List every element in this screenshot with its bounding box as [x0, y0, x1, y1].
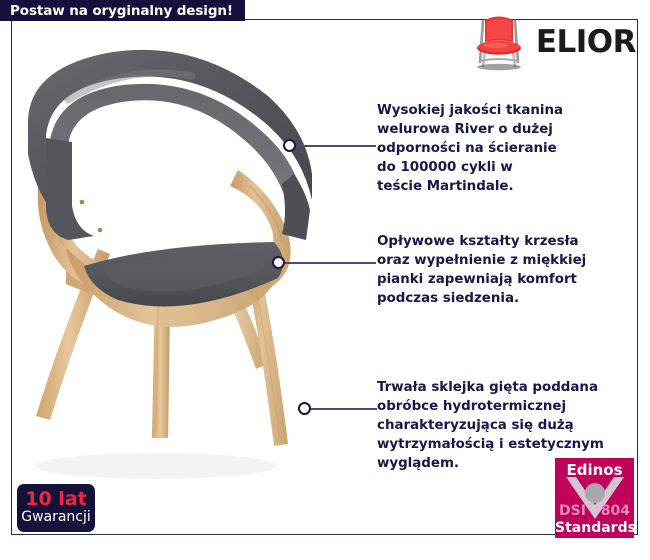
- callout-text: Opływowe kształty krzesła oraz wypełnien…: [377, 232, 586, 308]
- brand-name: ELIOR: [536, 27, 636, 58]
- callout-dot-icon: [272, 256, 285, 269]
- callout-dot-icon: [283, 139, 296, 152]
- brand-logo: ELIOR: [470, 12, 636, 72]
- warranty-badge: 10 lat Gwarancji: [17, 484, 95, 532]
- headline-banner: Postaw na oryginalny design!: [0, 0, 245, 21]
- edinos-standards-badge: Edinos DSI 804 Standards: [555, 458, 634, 538]
- warranty-label: Gwarancji: [21, 510, 91, 525]
- callout-leader-line: [309, 408, 377, 410]
- edinos-bottom-label: Standards: [555, 520, 634, 536]
- edinos-right-code: 804: [601, 503, 630, 519]
- red-chair-icon: [470, 12, 528, 72]
- callout-dot-icon: [298, 402, 311, 415]
- callout-fabric: Wysokiej jakości tkanina welurowa River …: [283, 101, 583, 196]
- callout-text: Wysokiej jakości tkanina welurowa River …: [377, 101, 563, 196]
- callout-leader-line: [283, 262, 376, 264]
- warranty-years: 10 lat: [25, 490, 86, 510]
- product-infographic-page: Postaw na oryginalny design! ELIOR: [0, 0, 650, 560]
- edinos-left-code: DSI: [559, 503, 586, 519]
- headline-text: Postaw na oryginalny design!: [10, 3, 233, 19]
- callout-comfort: Opływowe kształty krzesła oraz wypełnien…: [272, 232, 592, 308]
- callout-leader-line: [294, 145, 376, 147]
